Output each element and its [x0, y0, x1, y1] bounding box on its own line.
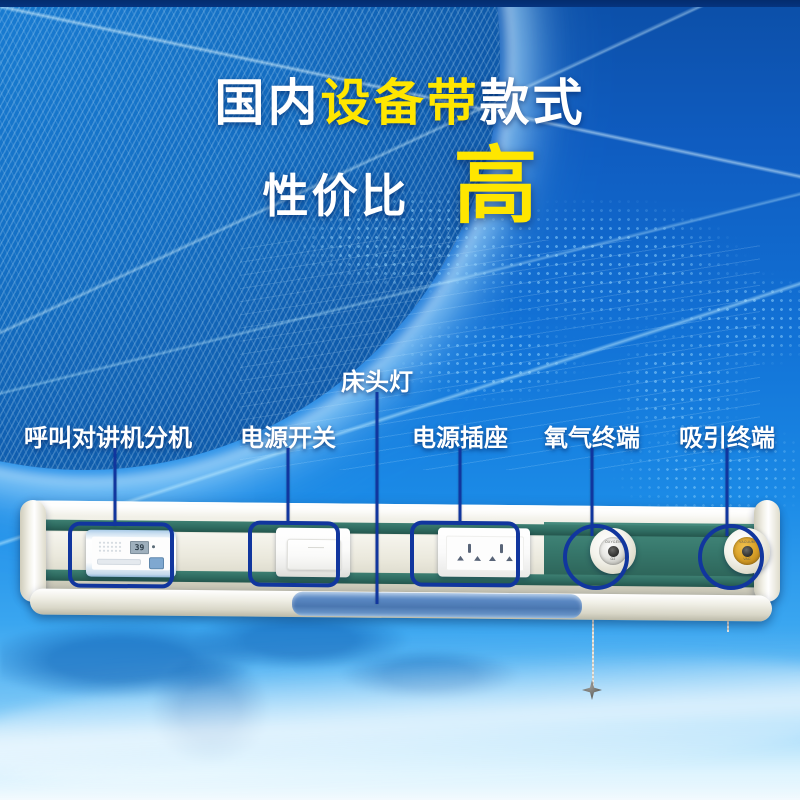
- leader-line-socket: [459, 448, 462, 524]
- top-edge-strip: [0, 0, 800, 7]
- leader-line-power-switch: [287, 448, 290, 524]
- leader-line-bed-lamp: [376, 392, 379, 604]
- highlight-box-socket: [410, 520, 520, 587]
- highlight-box-power-switch: [248, 521, 340, 588]
- poster-canvas: 国内设备带款式 性价比 高 39: [0, 0, 800, 800]
- leader-line-oxygen: [591, 448, 594, 536]
- highlight-circle-oxygen: [563, 524, 629, 590]
- leader-line-intercom: [114, 448, 117, 526]
- callout-layer: 呼叫对讲机分机 电源开关 床头灯 电源插座 氧气终端 吸引终端: [0, 0, 800, 800]
- highlight-box-intercom: [68, 521, 174, 588]
- callout-label-intercom: 呼叫对讲机分机: [24, 418, 192, 453]
- highlight-circle-suction: [698, 524, 764, 590]
- leader-line-suction: [726, 448, 729, 536]
